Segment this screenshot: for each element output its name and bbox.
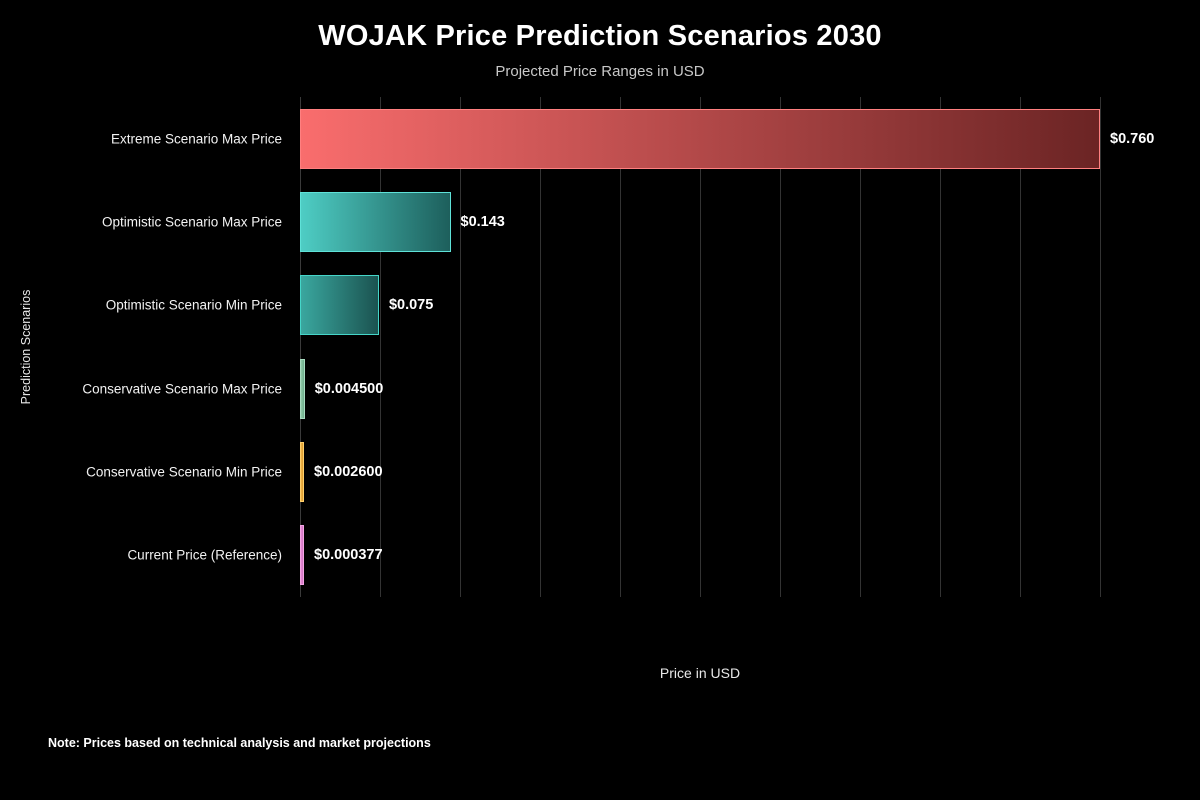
bar-row[interactable]: $0.075 (300, 275, 1200, 335)
y-axis-tick-label: Optimistic Scenario Max Price (102, 215, 282, 230)
bar-value-label: $0.760 (1110, 131, 1154, 147)
bar-value-label: $0.143 (461, 214, 505, 230)
bar-row[interactable]: $0.760 (300, 109, 1200, 169)
bar-row[interactable]: $0.000377 (300, 525, 1200, 585)
bar[interactable] (300, 525, 304, 585)
y-axis-tick-label: Current Price (Reference) (127, 548, 282, 563)
x-gridline (1100, 97, 1101, 597)
chart-title: WOJAK Price Prediction Scenarios 2030 (0, 20, 1200, 53)
chart-footnote: Note: Prices based on technical analysis… (48, 736, 431, 750)
y-axis-tick-label: Extreme Scenario Max Price (111, 131, 282, 146)
bar-row[interactable]: $0.004500 (300, 359, 1200, 419)
bar-value-label: $0.075 (389, 297, 433, 313)
bar-value-label: $0.004500 (315, 381, 384, 397)
bar[interactable] (300, 192, 451, 252)
y-axis-tick-label: Conservative Scenario Max Price (82, 381, 282, 396)
y-axis-tick-labels: Extreme Scenario Max PriceOptimistic Sce… (0, 97, 292, 597)
bar[interactable] (300, 442, 304, 502)
y-axis-tick-label: Conservative Scenario Min Price (86, 465, 282, 480)
bar[interactable] (300, 359, 305, 419)
x-axis-title: Price in USD (300, 665, 1100, 681)
bar-value-label: $0.000377 (314, 547, 383, 563)
bar[interactable] (300, 109, 1100, 169)
plot-area: $0.760$0.143$0.075$0.004500$0.002600$0.0… (300, 97, 1100, 597)
bar-row[interactable]: $0.002600 (300, 442, 1200, 502)
chart-subtitle: Projected Price Ranges in USD (0, 63, 1200, 80)
bar-row[interactable]: $0.143 (300, 192, 1200, 252)
y-axis-tick-label: Optimistic Scenario Min Price (106, 298, 282, 313)
bar[interactable] (300, 275, 379, 335)
bar-value-label: $0.002600 (314, 464, 383, 480)
bar-series: $0.760$0.143$0.075$0.004500$0.002600$0.0… (300, 97, 1100, 597)
